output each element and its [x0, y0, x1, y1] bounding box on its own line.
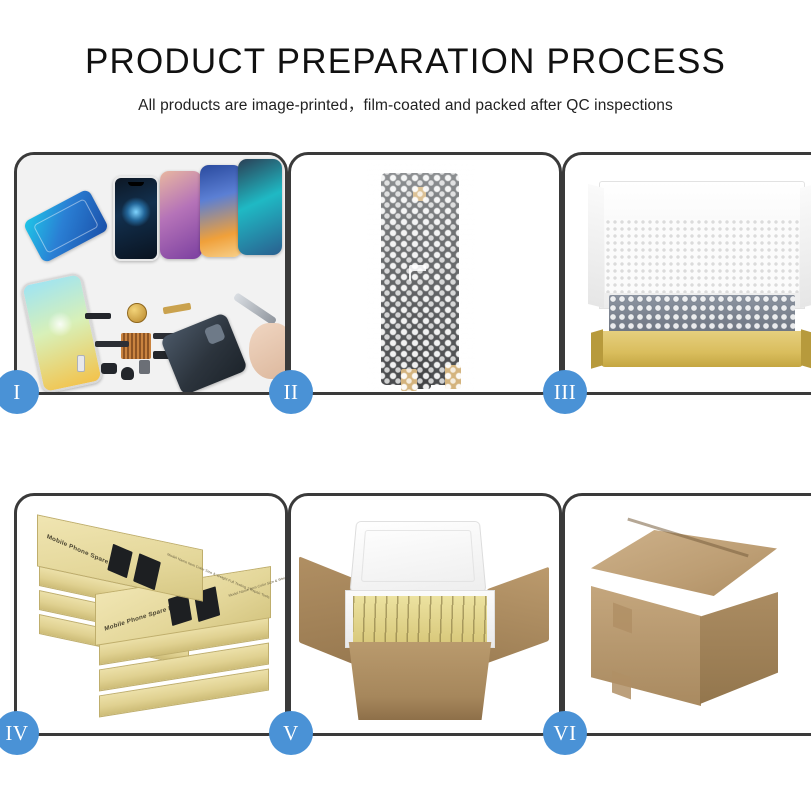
gold-coin-part — [127, 303, 147, 323]
step-1-image — [17, 155, 285, 392]
process-steps-grid: I II III — [14, 152, 797, 736]
page-subtitle: All products are image-printed，film-coat… — [0, 93, 811, 115]
black-flex-cable-1 — [95, 341, 129, 347]
sim-tray-part — [77, 355, 85, 372]
battery-connector-part — [139, 360, 150, 374]
step-badge-4: IV — [0, 711, 39, 755]
step-badge-3: III — [543, 370, 587, 414]
step-3-image — [565, 155, 811, 392]
process-step-panel-6[interactable]: VI — [562, 493, 811, 736]
kraft-box-tray — [601, 331, 803, 367]
page-header: PRODUCT PREPARATION PROCESS All products… — [0, 0, 811, 115]
carton-top-face — [591, 530, 777, 596]
bubble-wrap-contents — [609, 295, 795, 333]
page-title: PRODUCT PREPARATION PROCESS — [0, 44, 811, 81]
process-step-panel-2[interactable]: II — [288, 152, 562, 395]
step-4-image: Mobile Phone Spare Parts Model Name Item… — [17, 496, 285, 733]
camera-module-part — [101, 363, 117, 374]
step-badge-2: II — [269, 370, 313, 414]
process-step-panel-4[interactable]: Mobile Phone Spare Parts Model Name Item… — [14, 493, 288, 736]
carton-body — [339, 642, 501, 720]
box-stack: Mobile Phone Spare Parts Model Name Item… — [35, 518, 273, 726]
vibration-motor-part — [121, 367, 134, 380]
packed-yellow-boxes — [353, 596, 487, 642]
carton-front-face — [591, 586, 701, 706]
speaker-mesh-part — [85, 313, 111, 319]
cracked-black-screen — [113, 176, 159, 261]
technician-hand — [249, 323, 285, 379]
carton-side-face — [700, 592, 778, 704]
step-badge-1: I — [0, 370, 39, 414]
process-step-panel-1[interactable]: I — [14, 152, 288, 395]
step-6-image — [565, 496, 811, 733]
step-badge-6: VI — [543, 711, 587, 755]
teal-phone-screen — [238, 159, 282, 255]
orange-blue-phone-screen — [200, 165, 242, 257]
foam-insert — [605, 219, 799, 293]
purple-phone-screen — [160, 171, 202, 259]
process-step-panel-3[interactable]: III — [562, 152, 811, 395]
bubble-wrap-layer — [367, 163, 475, 391]
carton-flap-right — [487, 567, 549, 664]
step-badge-5: V — [269, 711, 313, 755]
foam-lid — [350, 521, 487, 592]
process-step-panel-5[interactable]: V — [288, 493, 562, 736]
step-2-image — [291, 155, 559, 392]
step-5-image — [291, 496, 559, 733]
bubble-wrapped-package — [367, 163, 475, 391]
